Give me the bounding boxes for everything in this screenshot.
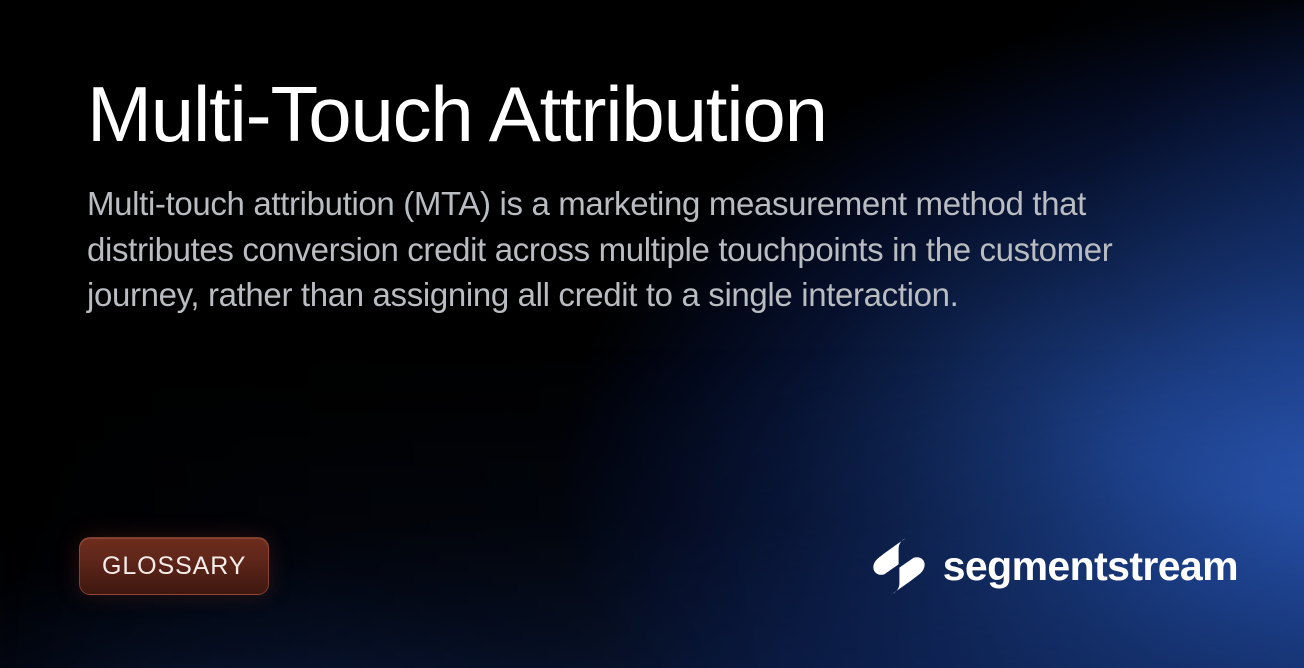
segmentstream-bolt-logo-icon [872,537,926,595]
card-content: Multi-Touch Attribution Multi-touch attr… [0,0,1304,668]
page-description: Multi-touch attribution (MTA) is a marke… [87,181,1147,318]
glossary-badge: GLOSSARY [79,537,269,595]
brand-lockup: segmentstream [872,534,1238,598]
page-title: Multi-Touch Attribution [87,74,827,155]
glossary-share-card: Multi-Touch Attribution Multi-touch attr… [0,0,1304,668]
glossary-badge-label: GLOSSARY [102,554,246,579]
brand-name: segmentstream [943,546,1238,587]
